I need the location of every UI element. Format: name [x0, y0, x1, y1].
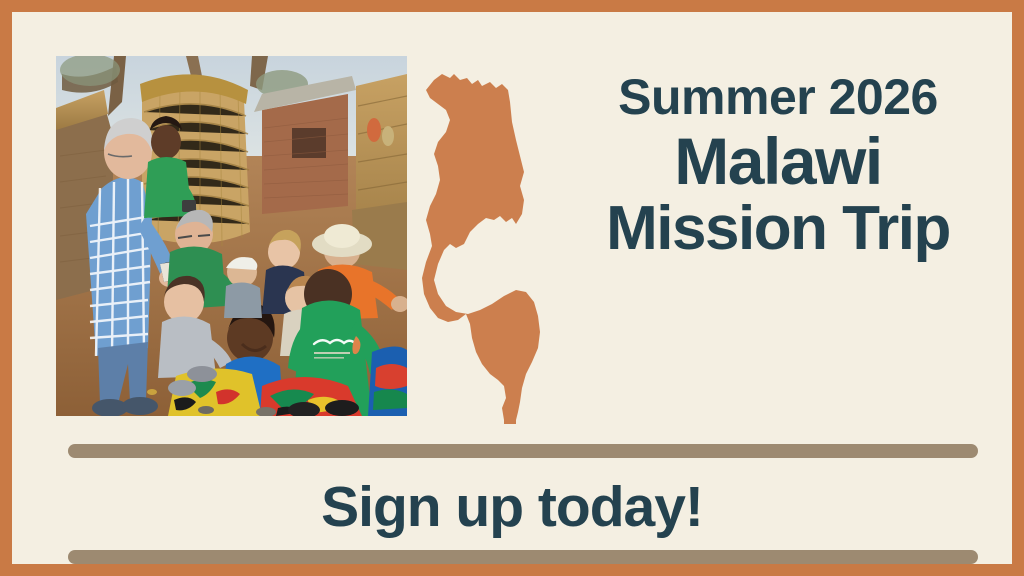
poster-inner-panel: Summer 2026 Malawi Mission Trip Sign up … — [12, 12, 1012, 564]
mission-photo-illustration — [56, 56, 407, 416]
malawi-country-silhouette-icon — [420, 68, 570, 424]
mission-photo-frame — [56, 56, 407, 416]
call-to-action-text: Sign up today! — [24, 470, 1000, 544]
mission-photo — [56, 56, 407, 416]
malawi-map — [420, 68, 570, 424]
headline-line-trip: Mission Trip — [568, 198, 988, 260]
divider-rule-top — [68, 444, 978, 458]
poster-canvas: Summer 2026 Malawi Mission Trip Sign up … — [0, 0, 1024, 576]
headline-line-season: Summer 2026 — [568, 72, 988, 122]
headline-line-country: Malawi — [568, 128, 988, 194]
divider-rule-bottom — [68, 550, 978, 564]
poster-headline: Summer 2026 Malawi Mission Trip — [568, 72, 988, 260]
